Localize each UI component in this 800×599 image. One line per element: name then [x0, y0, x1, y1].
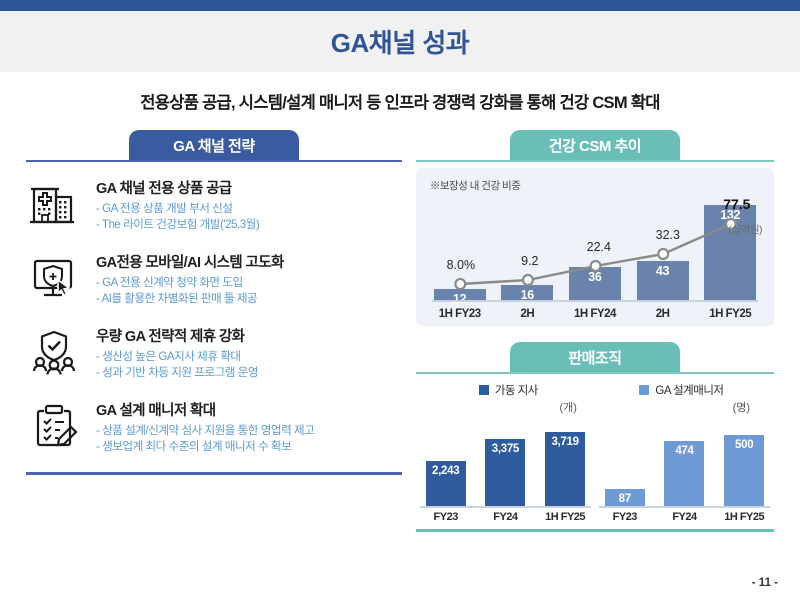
- org-chart-panel: 가동 지사 GA 설계매니저 (개) (명): [416, 382, 774, 532]
- org-bar-value: 87: [619, 493, 631, 505]
- list-item-title: GA 채널 전용 상품 공급: [96, 177, 259, 198]
- clipboard-checklist-pencil-icon: [26, 398, 82, 454]
- csm-section-pill: 건강 CSM 추이: [510, 130, 680, 160]
- org-unit-label: (개): [422, 399, 595, 415]
- org-x-tick: FY23: [416, 511, 476, 523]
- org-x-tick: FY24: [476, 511, 536, 523]
- csm-line-label: 8.0%: [438, 258, 484, 272]
- org-bar-value: 2,243: [432, 465, 459, 477]
- org-bar-cell: 474: [655, 441, 715, 507]
- csm-line-label: 22.4: [576, 240, 622, 254]
- csm-x-labels: 1H FY23 2H 1H FY24 2H 1H FY25: [426, 308, 764, 320]
- org-bar: 474: [664, 441, 704, 507]
- org-bar-cell: 500: [714, 435, 774, 507]
- list-item-title: GA전용 모바일/AI 시스템 고도화: [96, 251, 284, 272]
- org-bar-cell: 87: [595, 489, 655, 507]
- page-title: GA채널 성과: [331, 23, 469, 60]
- list-item-bullet: - AI를 활용한 차별화된 판매 툴 제공: [96, 291, 284, 307]
- csm-section-header: 건강 CSM 추이: [416, 130, 774, 162]
- legend-item: GA 설계매니저: [595, 382, 768, 398]
- csm-unit-label: (십억원): [729, 222, 762, 237]
- org-x-axis: [599, 506, 770, 508]
- org-bar-value: 500: [735, 439, 753, 451]
- title-band: GA채널 성과: [0, 11, 800, 72]
- top-accent-bar: [0, 0, 800, 11]
- list-item-bullet: - 생보업계 최다 수준의 설계 매니저 수 확보: [96, 439, 314, 455]
- org-bar-group: 2,243 3,375 3,719: [416, 417, 595, 507]
- org-x-tick: FY23: [595, 511, 655, 523]
- csm-line-label: 32.3: [645, 228, 691, 242]
- org-x-labels: FY23 FY24 1H FY25: [416, 511, 595, 523]
- list-item-bullet: - GA 전용 신계약 청약 화면 도입: [96, 275, 284, 291]
- list-item-body: 우량 GA 전략적 제휴 강화 - 생산성 높은 GA지사 제휴 확대 - 성과…: [96, 324, 258, 382]
- org-bar-cell: 3,719: [535, 432, 595, 507]
- legend-label: GA 설계매니저: [655, 382, 723, 398]
- org-bar-cell: 2,243: [416, 461, 476, 507]
- list-item-body: GA 채널 전용 상품 공급 - GA 전용 상품 개발 부서 신설 - The…: [96, 176, 259, 234]
- list-item: GA 채널 전용 상품 공급 - GA 전용 상품 개발 부서 신설 - The…: [26, 176, 402, 234]
- right-column: 건강 CSM 추이 ※보장성 내 건강 비중 12 16: [416, 130, 774, 532]
- left-section-header: GA 채널 전략: [26, 130, 402, 162]
- csm-header-rule: [416, 160, 774, 162]
- org-x-tick: 1H FY25: [535, 511, 595, 523]
- org-section-header: 판매조직: [416, 342, 774, 374]
- shield-check-people-icon: [26, 324, 82, 380]
- org-group-managers: 87 474 500: [595, 417, 774, 523]
- left-bottom-rule: [26, 472, 402, 475]
- csm-x-tick: 2H: [493, 308, 561, 320]
- org-bar-group: 87 474 500: [595, 417, 774, 507]
- legend-swatch-icon: [479, 385, 489, 395]
- list-item-title: 우량 GA 전략적 제휴 강화: [96, 325, 258, 346]
- legend-swatch-icon: [639, 385, 649, 395]
- csm-line-label-latest: 77.5: [712, 196, 762, 212]
- list-item-bullet: - 생산성 높은 GA지사 제휴 확대: [96, 349, 258, 365]
- csm-x-tick: 2H: [629, 308, 697, 320]
- page-number: - 11 -: [752, 577, 778, 589]
- list-item: 우량 GA 전략적 제휴 강화 - 생산성 높은 GA지사 제휴 확대 - 성과…: [26, 324, 402, 382]
- left-column: GA 채널 전략: [26, 130, 402, 532]
- org-legend-half: GA 설계매니저: [595, 382, 768, 398]
- org-unit-row: (개) (명): [416, 399, 774, 415]
- subtitle-band: 전용상품 공급, 시스템/설계 매니저 등 인프라 경쟁력 강화를 통해 건강 …: [0, 72, 800, 130]
- hospital-icon: [26, 176, 82, 232]
- csm-x-axis: [432, 300, 758, 302]
- list-item: GA 설계 매니저 확대 - 상품 설계/신계약 심사 지원을 통한 영업력 제…: [26, 398, 402, 456]
- left-section-pill: GA 채널 전략: [129, 130, 299, 160]
- org-section-pill: 판매조직: [510, 342, 680, 372]
- org-unit-label: (명): [595, 399, 768, 415]
- slide-subtitle: 전용상품 공급, 시스템/설계 매니저 등 인프라 경쟁력 강화를 통해 건강 …: [140, 89, 659, 113]
- org-bar: 3,719: [545, 432, 585, 507]
- org-x-tick: FY24: [655, 511, 715, 523]
- csm-plot-area: 12 16 36 43: [426, 182, 764, 320]
- org-bottom-rule: [416, 529, 774, 532]
- csm-chart-panel: ※보장성 내 건강 비중 12 16: [416, 168, 774, 326]
- content-columns: GA 채널 전략: [0, 130, 800, 532]
- org-bar-value: 474: [675, 445, 693, 457]
- monitor-shield-cursor-icon: [26, 250, 82, 306]
- list-item: GA전용 모바일/AI 시스템 고도화 - GA 전용 신계약 청약 화면 도입…: [26, 250, 402, 308]
- csm-x-tick: 1H FY24: [561, 308, 629, 320]
- csm-x-tick: 1H FY23: [426, 308, 494, 320]
- strategy-list: GA 채널 전용 상품 공급 - GA 전용 상품 개발 부서 신설 - The…: [26, 176, 402, 456]
- csm-line-label: 9.2: [507, 254, 553, 268]
- list-item-bullet: - 상품 설계/신계약 심사 지원을 통한 영업력 제고: [96, 423, 314, 439]
- org-bar: 500: [724, 435, 764, 507]
- org-plot-area: 2,243 3,375 3,719: [416, 417, 774, 523]
- org-bar: 3,375: [485, 439, 525, 507]
- list-item-bullet: - 성과 기반 차등 지원 프로그램 운영: [96, 365, 258, 381]
- list-item-body: GA전용 모바일/AI 시스템 고도화 - GA 전용 신계약 청약 화면 도입…: [96, 250, 284, 308]
- legend-item: 가동 지사: [422, 382, 595, 398]
- org-x-axis: [420, 506, 591, 508]
- org-bar: 87: [605, 489, 645, 507]
- org-legend: 가동 지사 GA 설계매니저: [416, 382, 774, 398]
- csm-x-tick: 1H FY25: [696, 308, 764, 320]
- legend-label: 가동 지사: [495, 382, 538, 398]
- org-bar: 2,243: [426, 461, 466, 507]
- org-bar-value: 3,375: [492, 443, 519, 455]
- org-legend-half: 가동 지사: [422, 382, 595, 398]
- org-header-rule: [416, 372, 774, 374]
- list-item-title: GA 설계 매니저 확대: [96, 399, 314, 420]
- left-header-rule: [26, 160, 402, 162]
- list-item-bullet: - The 라이트 건강보험 개발('25.3월): [96, 217, 259, 233]
- org-bar-cell: 3,375: [476, 439, 536, 507]
- list-item-body: GA 설계 매니저 확대 - 상품 설계/신계약 심사 지원을 통한 영업력 제…: [96, 398, 314, 456]
- org-x-tick: 1H FY25: [714, 511, 774, 523]
- list-item-bullet: - GA 전용 상품 개발 부서 신설: [96, 201, 259, 217]
- org-group-branches: 2,243 3,375 3,719: [416, 417, 595, 523]
- org-bar-value: 3,719: [551, 436, 578, 448]
- org-x-labels: FY23 FY24 1H FY25: [595, 511, 774, 523]
